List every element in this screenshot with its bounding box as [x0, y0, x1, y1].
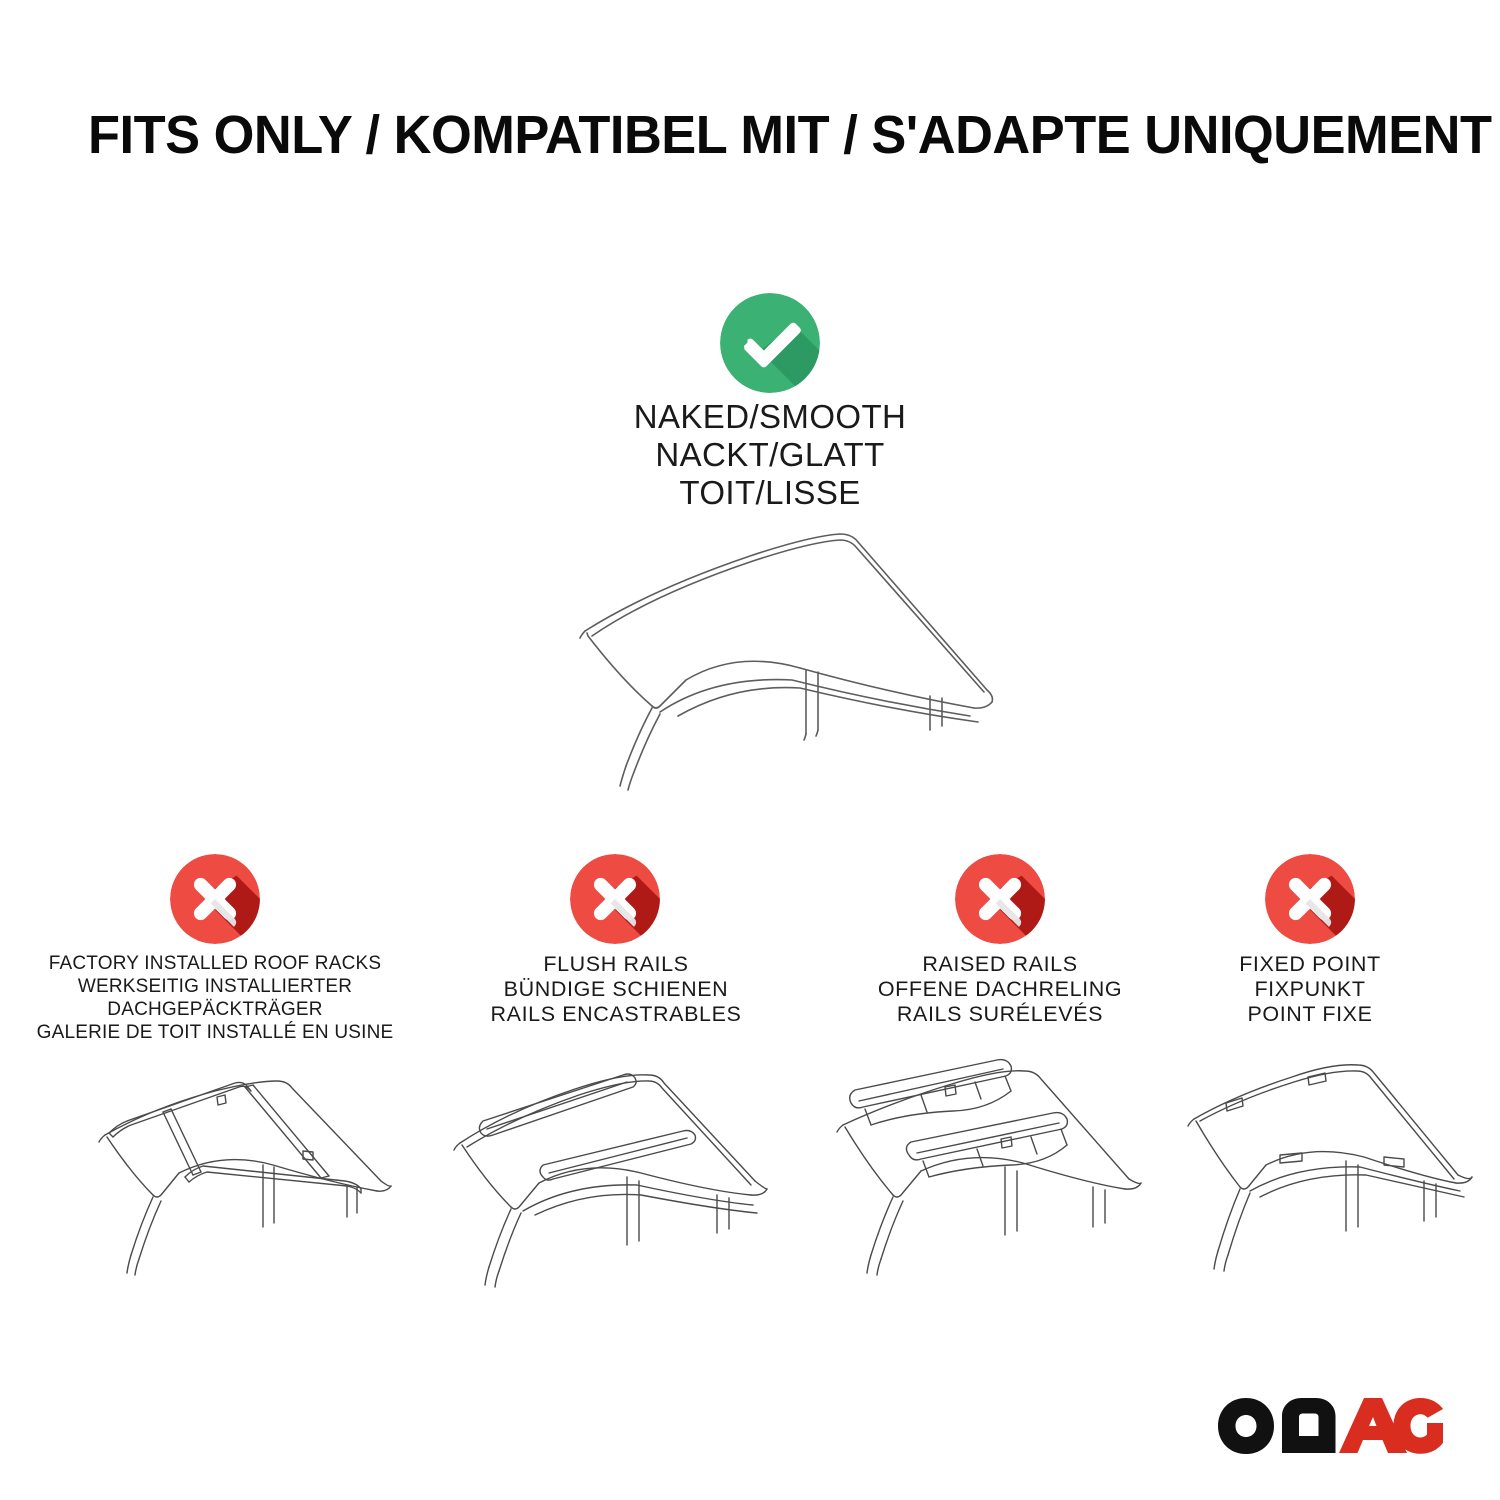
- factory-roof-rack-label-line-1: FACTORY INSTALLED ROOF RACKS: [12, 952, 418, 975]
- compatible-label-line-1: NAKED/SMOOTH: [470, 398, 1070, 436]
- factory-roof-rack-label: FACTORY INSTALLED ROOF RACKS WERKSEITIG …: [12, 952, 418, 1044]
- fixed-point-label-line-1: FIXED POINT: [1112, 952, 1500, 977]
- factory-roof-rack-label-line-2: WERKSEITIG INSTALLIERTER: [12, 975, 418, 998]
- factory-roof-rack-label-line-4: GALERIE DE TOIT INSTALLÉ EN USINE: [12, 1021, 418, 1044]
- compatible-label: NAKED/SMOOTH NACKT/GLATT TOIT/LISSE: [470, 398, 1070, 512]
- naked-smooth-roof-illustration: [500, 520, 1040, 810]
- compatible-label-line-2: NACKT/GLATT: [470, 436, 1070, 474]
- flush-rails-label-line-3: RAILS ENCASTRABLES: [418, 1002, 814, 1027]
- compatible-label-line-3: TOIT/LISSE: [470, 474, 1070, 512]
- flush-rails-illustration: [435, 1055, 855, 1305]
- check-icon: [720, 293, 820, 393]
- flush-rails-label-line-2: BÜNDIGE SCHIENEN: [418, 977, 814, 1002]
- fixed-point-illustration: [1180, 1055, 1500, 1305]
- factory-roof-rack-label-line-3: DACHGEPÄCKTRÄGER: [12, 998, 418, 1021]
- cross-icon: [1265, 854, 1355, 944]
- fixed-point-label-line-3: POINT FIXE: [1112, 1002, 1500, 1027]
- flush-rails-label: FLUSH RAILS BÜNDIGE SCHIENEN RAILS ENCAS…: [418, 952, 814, 1027]
- cross-icon: [955, 854, 1045, 944]
- page-title: FITS ONLY / KOMPATIBEL MIT / S'ADAPTE UN…: [88, 104, 1388, 166]
- infographic-page: FITS ONLY / KOMPATIBEL MIT / S'ADAPTE UN…: [0, 0, 1500, 1500]
- fixed-point-label-line-2: FIXPUNKT: [1112, 977, 1500, 1002]
- cross-icon: [570, 854, 660, 944]
- cross-icon: [170, 854, 260, 944]
- factory-roof-rack-illustration: [45, 1055, 465, 1305]
- omac-logo: [1212, 1392, 1448, 1454]
- fixed-point-label: FIXED POINT FIXPUNKT POINT FIXE: [1112, 952, 1500, 1027]
- flush-rails-label-line-1: FLUSH RAILS: [418, 952, 814, 977]
